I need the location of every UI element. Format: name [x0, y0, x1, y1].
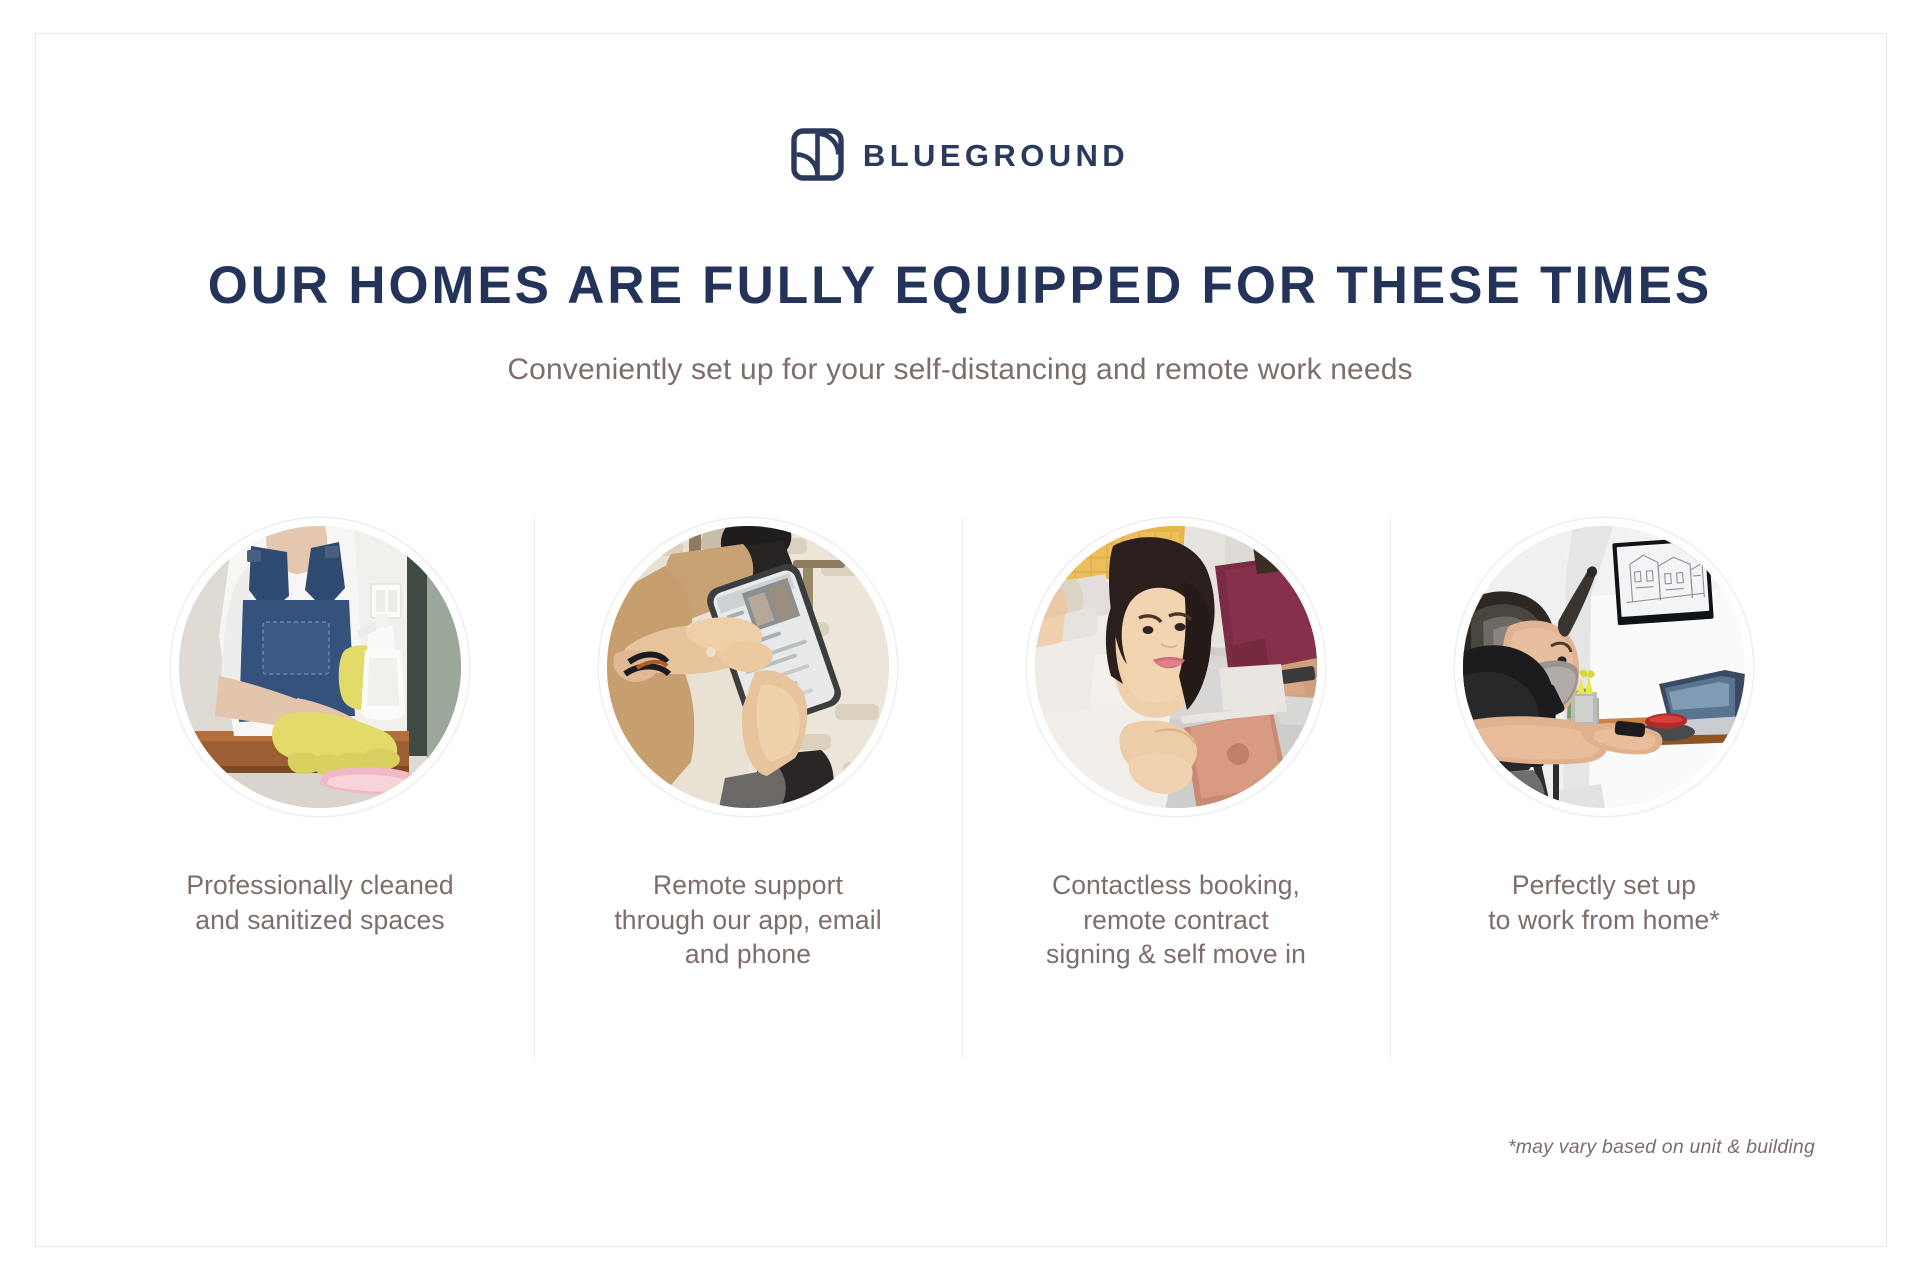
photo-ring	[1027, 518, 1325, 816]
brand-wordmark: BLUEGROUND	[863, 138, 1129, 171]
feature-caption: Perfectly set up to work from home*	[1488, 868, 1720, 937]
page-title: OUR HOMES ARE FULLY EQUIPPED FOR THESE T…	[29, 258, 1891, 314]
photo-ring	[171, 518, 469, 816]
feature-column-cleaning: Professionally cleaned and sanitized spa…	[106, 518, 534, 1058]
feature-column-remote-support: Remote support through our app, email an…	[534, 518, 962, 1058]
feature-column-contactless-booking: Contactless booking, remote contract sig…	[962, 518, 1390, 1058]
feature-column-work-from-home: Perfectly set up to work from home*	[1390, 518, 1818, 1058]
feature-columns: Professionally cleaned and sanitized spa…	[106, 518, 1818, 1058]
page-subtitle: Conveniently set up for your self-distan…	[0, 352, 1920, 388]
brand-logo: BLUEGROUND	[0, 128, 1920, 181]
footnote-disclaimer: *may vary based on unit & building	[1508, 1136, 1815, 1159]
photo-contactless-booking-tablet	[1035, 526, 1317, 808]
feature-caption: Contactless booking, remote contract sig…	[1046, 868, 1306, 972]
blueground-square-logo-icon	[791, 128, 844, 181]
photo-ring	[1455, 518, 1753, 816]
photo-remote-support-phone	[607, 526, 889, 808]
photo-work-from-home-desk	[1463, 526, 1745, 808]
feature-caption: Remote support through our app, email an…	[614, 868, 881, 972]
feature-caption: Professionally cleaned and sanitized spa…	[186, 868, 453, 937]
marketing-slide: BLUEGROUND OUR HOMES ARE FULLY EQUIPPED …	[0, 0, 1920, 1280]
photo-professional-cleaning	[179, 526, 461, 808]
photo-ring	[599, 518, 897, 816]
